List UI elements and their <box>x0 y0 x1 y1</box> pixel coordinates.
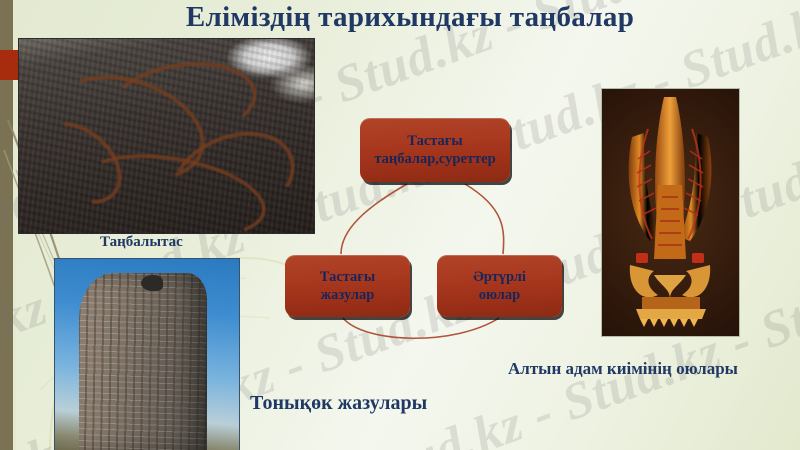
image-golden-headdress <box>601 88 740 337</box>
diagram-node-right[interactable]: Әртүрлі оюлар <box>437 255 562 317</box>
stele-shadow-notch <box>141 275 163 291</box>
headdress-ornament <box>602 89 739 336</box>
diagram-node-left[interactable]: Тастағы жазулар <box>285 255 410 317</box>
diagram-node-top[interactable]: Тастағы таңбалар,суреттер <box>360 118 510 182</box>
caption-altyn-adam: Алтын адам киімінің оюлары <box>508 359 738 379</box>
presentation-slide: Stud.kz - Stud.kz - Stud.kz - Stud.kz - … <box>0 0 800 450</box>
slide-title: Еліміздің тарихындағы таңбалар <box>110 2 710 34</box>
cycle-diagram: Тастағы таңбалар,суреттер Тастағы жазула… <box>255 100 605 350</box>
caption-tanbalytas: Таңбалытас <box>100 234 183 251</box>
image-stele <box>54 258 240 450</box>
caption-tonykok: Тонықөк жазулары <box>250 392 427 415</box>
stone-stele <box>79 273 207 450</box>
